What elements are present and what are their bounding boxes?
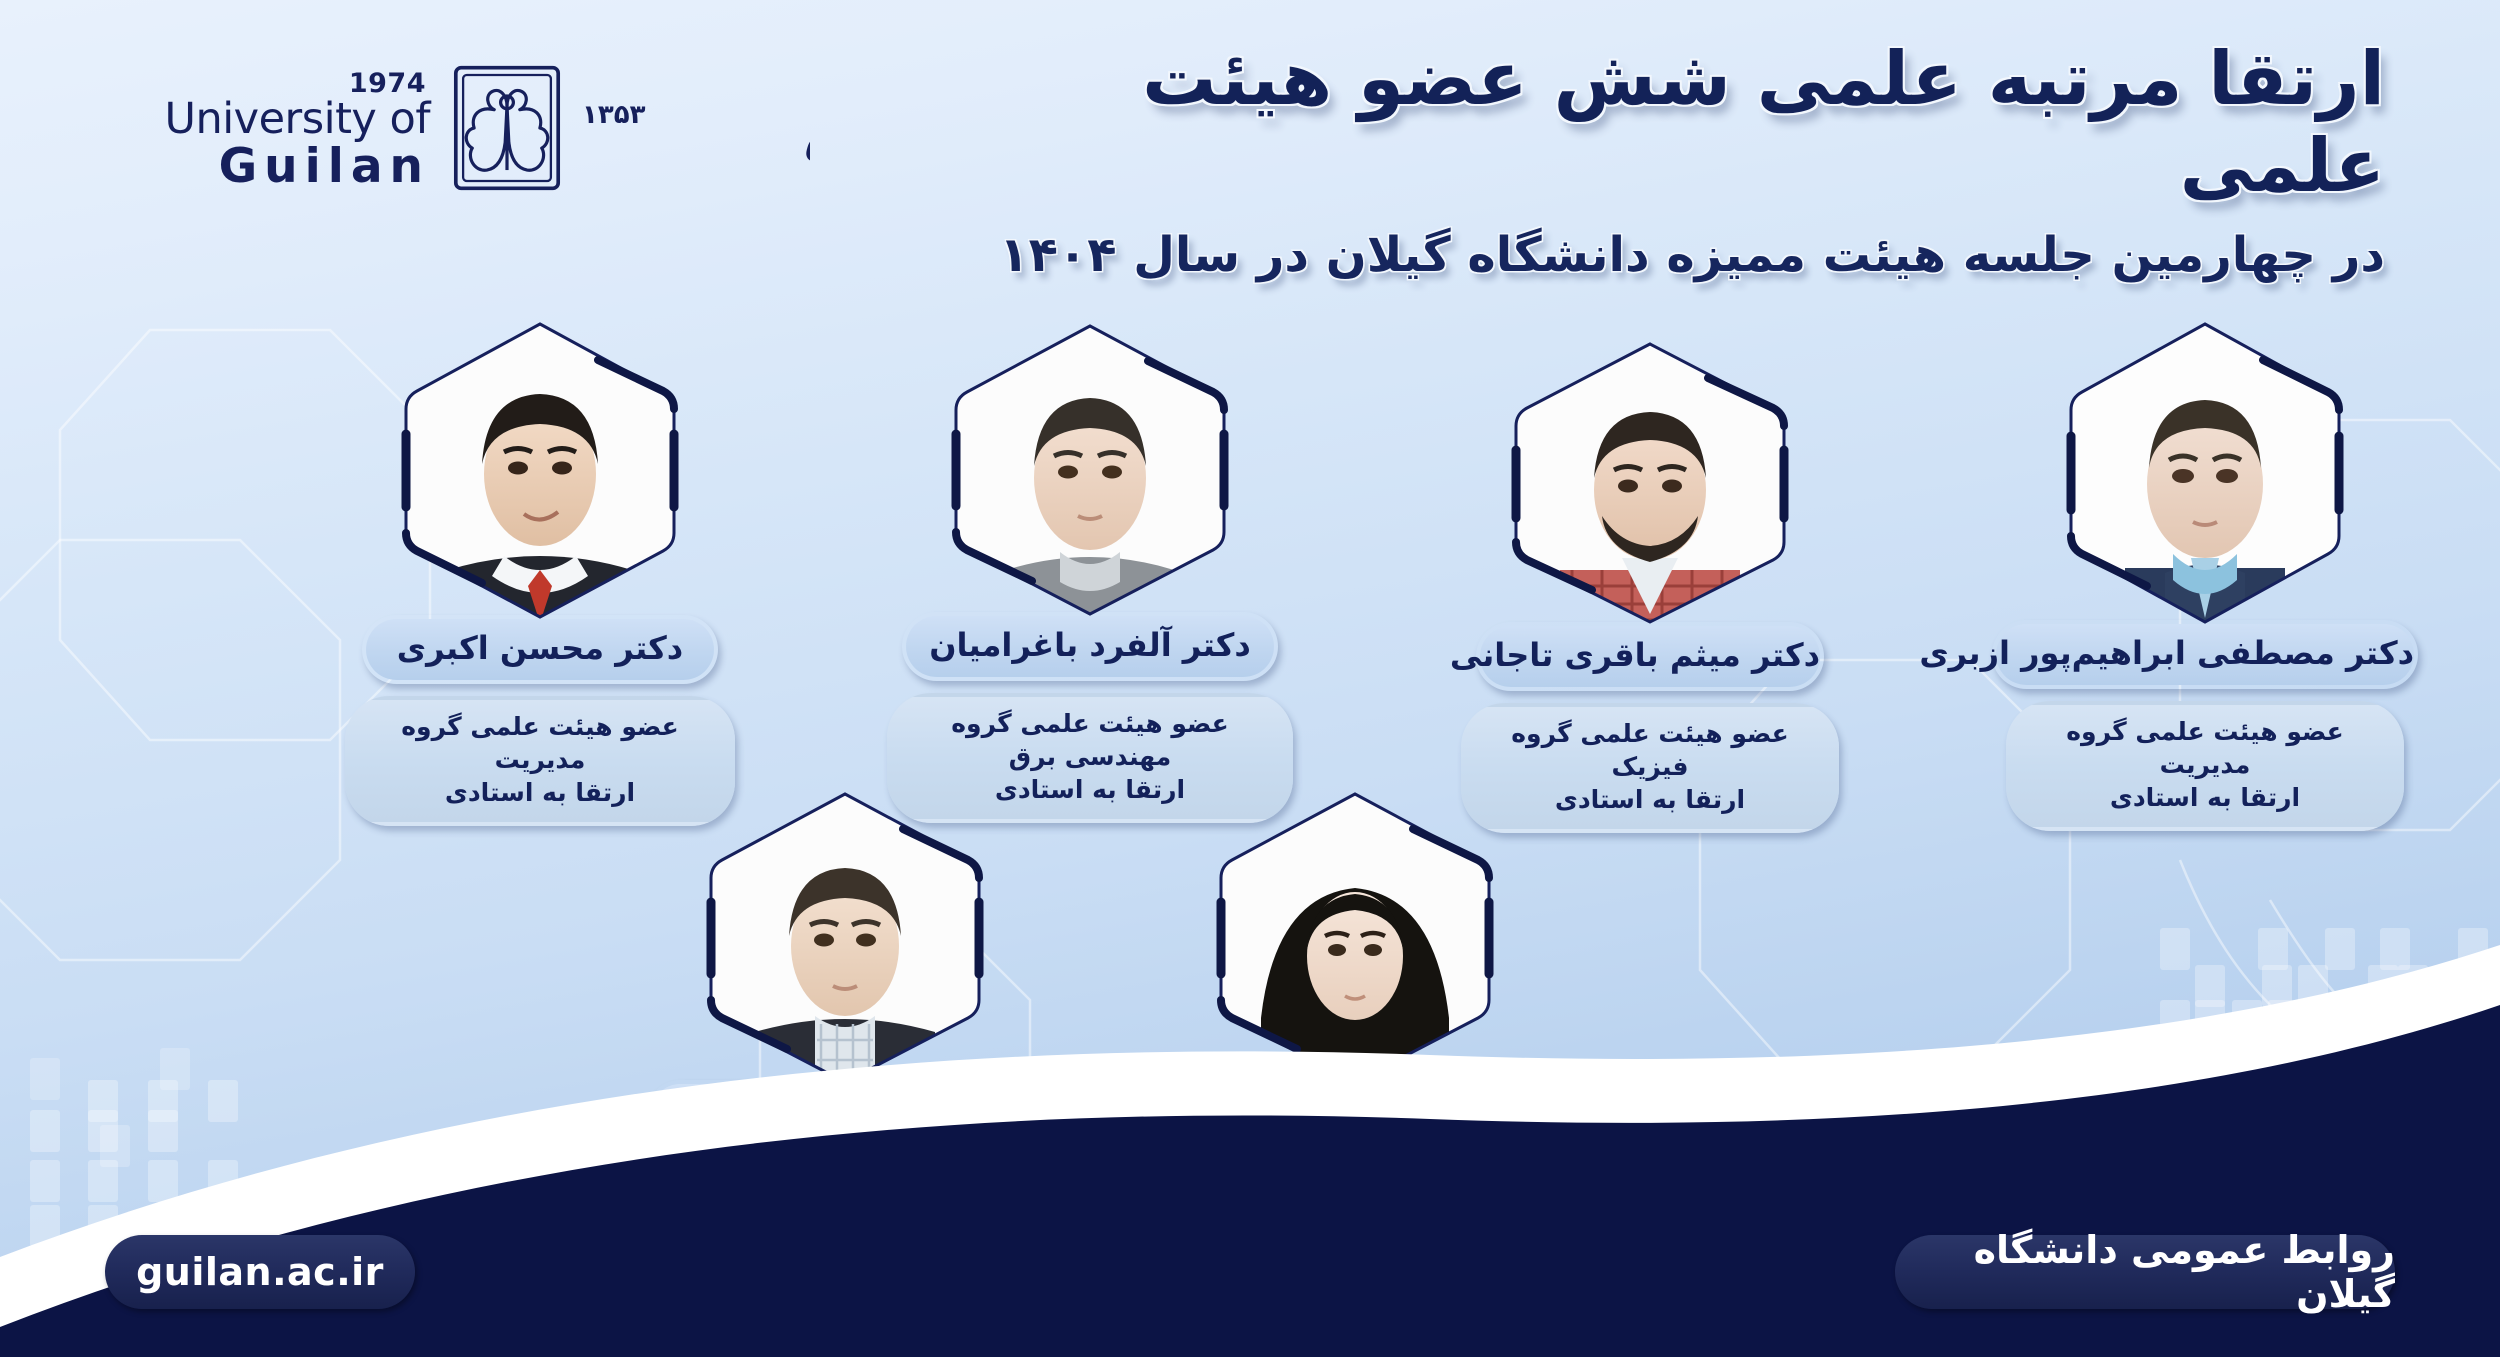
person-role: عضو هیئت علمی گروه مدیریت ارتقا به استاد… <box>2010 705 2400 827</box>
logo-text-en: 1974 University of Guilan <box>130 70 430 191</box>
photo-hexagon <box>2065 318 2345 628</box>
butterfly-emblem-icon <box>443 64 571 192</box>
person-name: دکتر مصطفی ابراهیم‌پور ازبری <box>1974 624 2436 685</box>
person-card[interactable]: دکتر میثم باقری تاجانی عضو هیئت علمی گرو… <box>1435 338 1865 833</box>
person-name: دکتر محسن اکبری <box>366 619 714 680</box>
poster-canvas: 1974 University of Guilan ۱۳۵۳ دانشگاه گ… <box>0 0 2500 1357</box>
header-block: ارتقا مرتبه علمی شش عضو هیئت علمی در چها… <box>925 36 2385 284</box>
public-relations-label: روابط عمومی دانشگاه گیلان <box>1895 1228 2395 1316</box>
person-role-line2: ارتقا به استادی <box>1555 785 1745 814</box>
person-name-pill: دکتر میثم باقری تاجانی <box>1476 622 1824 691</box>
person-card[interactable]: دکتر محسن اکبری عضو هیئت علمی گروه مدیری… <box>325 318 755 826</box>
person-name: دکتر آلفرد باغرامیان <box>906 616 1274 677</box>
svg-text:دانشگاه گیلان: دانشگاه گیلان <box>802 107 810 167</box>
page-subtitle: در چهارمین جلسه هیئت ممیزه دانشگاه گیلان… <box>925 227 2385 285</box>
person-role-line1: عضو هیئت علمی گروه مدیریت <box>2066 717 2343 779</box>
logo-line-university-of: University of <box>130 98 430 142</box>
page-title: ارتقا مرتبه علمی شش عضو هیئت علمی <box>925 36 2385 211</box>
photo-hexagon <box>950 320 1230 620</box>
photo-hexagon <box>1510 338 1790 628</box>
person-name: دکتر میثم باقری تاجانی <box>1458 626 1842 687</box>
website-url: guilan.ac.ir <box>136 1250 384 1294</box>
person-role-line2: ارتقا به استادی <box>445 778 635 807</box>
website-badge[interactable]: guilan.ac.ir <box>105 1235 415 1309</box>
person-card[interactable]: دکتر مصطفی ابراهیم‌پور ازبری عضو هیئت عل… <box>1990 318 2420 831</box>
public-relations-badge[interactable]: روابط عمومی دانشگاه گیلان <box>1895 1235 2395 1309</box>
logo-text-fa: دانشگاه گیلان <box>580 60 810 192</box>
photo-hexagon <box>400 318 680 623</box>
person-card[interactable]: دکتر آلفرد باغرامیان عضو هیئت علمی گروه … <box>875 320 1305 823</box>
person-name-pill: دکتر مصطفی ابراهیم‌پور ازبری <box>1992 620 2418 689</box>
university-logo: 1974 University of Guilan ۱۳۵۳ دانشگاه گ… <box>110 42 810 192</box>
logo-line-guilan: Guilan <box>130 142 430 191</box>
person-name-pill: دکتر آلفرد باغرامیان <box>902 612 1278 681</box>
person-role-line1: عضو هیئت علمی گروه مدیریت <box>401 712 678 774</box>
person-role-line1: عضو هیئت علمی گروه فیزیک <box>1511 719 1788 781</box>
person-role-pill: عضو هیئت علمی گروه مدیریت ارتقا به استاد… <box>2006 701 2404 831</box>
person-role-line1: عضو هیئت علمی گروه مهندسی برق <box>951 709 1228 771</box>
person-role-line2: ارتقا به استادی <box>2110 783 2300 812</box>
person-name-pill: دکتر محسن اکبری <box>362 615 718 684</box>
logo-year-en: 1974 <box>130 70 426 97</box>
